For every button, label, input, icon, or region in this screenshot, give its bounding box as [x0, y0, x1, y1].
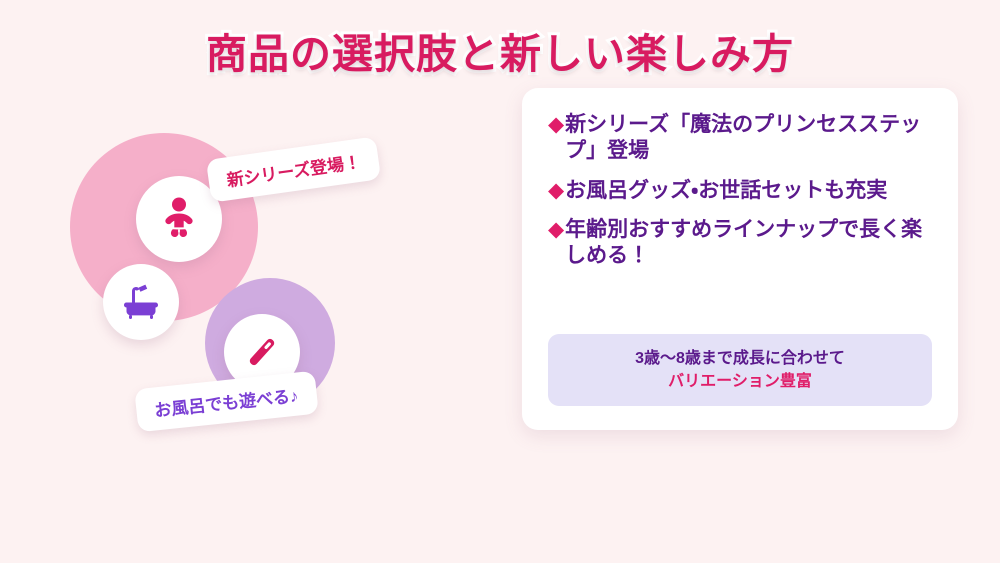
label-bath-play: お風呂でも遊べる♪ — [134, 371, 318, 433]
features-card: ◆ 新シリーズ「魔法のプリンセスステップ」登場 ◆ お風呂グッズ・お世話セットも… — [522, 88, 958, 430]
label-new-series: 新シリーズ登場！ — [206, 136, 381, 202]
highlight-line-1: 3歳〜8歳まで成長に合わせて — [558, 347, 922, 370]
bathtub-icon — [121, 282, 161, 322]
highlight-box: 3歳〜8歳まで成長に合わせて バリエーション豊富 — [548, 334, 932, 406]
list-item: ◆ お風呂グッズ・お世話セットも充実 — [548, 178, 932, 204]
label-bath-play-text: お風呂でも遊べる♪ — [154, 386, 300, 420]
illustration-group: 新シリーズ登場！ お風呂でも遊べる♪ — [0, 0, 520, 470]
badge-bathtub — [103, 264, 179, 340]
diamond-bullet-icon: ◆ — [548, 112, 564, 138]
feature-list: ◆ 新シリーズ「魔法のプリンセスステップ」登場 ◆ お風呂グッズ・お世話セットも… — [548, 112, 932, 269]
list-item: ◆ 年齢別おすすめラインナップで長く楽しめる！ — [548, 217, 932, 270]
diamond-bullet-icon: ◆ — [548, 178, 564, 204]
list-item-label: お風呂グッズ・お世話セットも充実 — [565, 178, 887, 204]
diamond-bullet-icon: ◆ — [548, 217, 564, 243]
magic-wand-icon — [242, 332, 282, 372]
slide-root: 商品の選択肢と新しい楽しみ方 — [0, 0, 1000, 563]
list-item-label: 新シリーズ「魔法のプリンセスステップ」登場 — [565, 112, 932, 165]
baby-icon — [156, 196, 202, 242]
list-item: ◆ 新シリーズ「魔法のプリンセスステップ」登場 — [548, 112, 932, 165]
list-item-label: 年齢別おすすめラインナップで長く楽しめる！ — [565, 217, 932, 270]
label-new-series-text: 新シリーズ登場！ — [226, 153, 362, 191]
highlight-line-2: バリエーション豊富 — [558, 370, 922, 393]
